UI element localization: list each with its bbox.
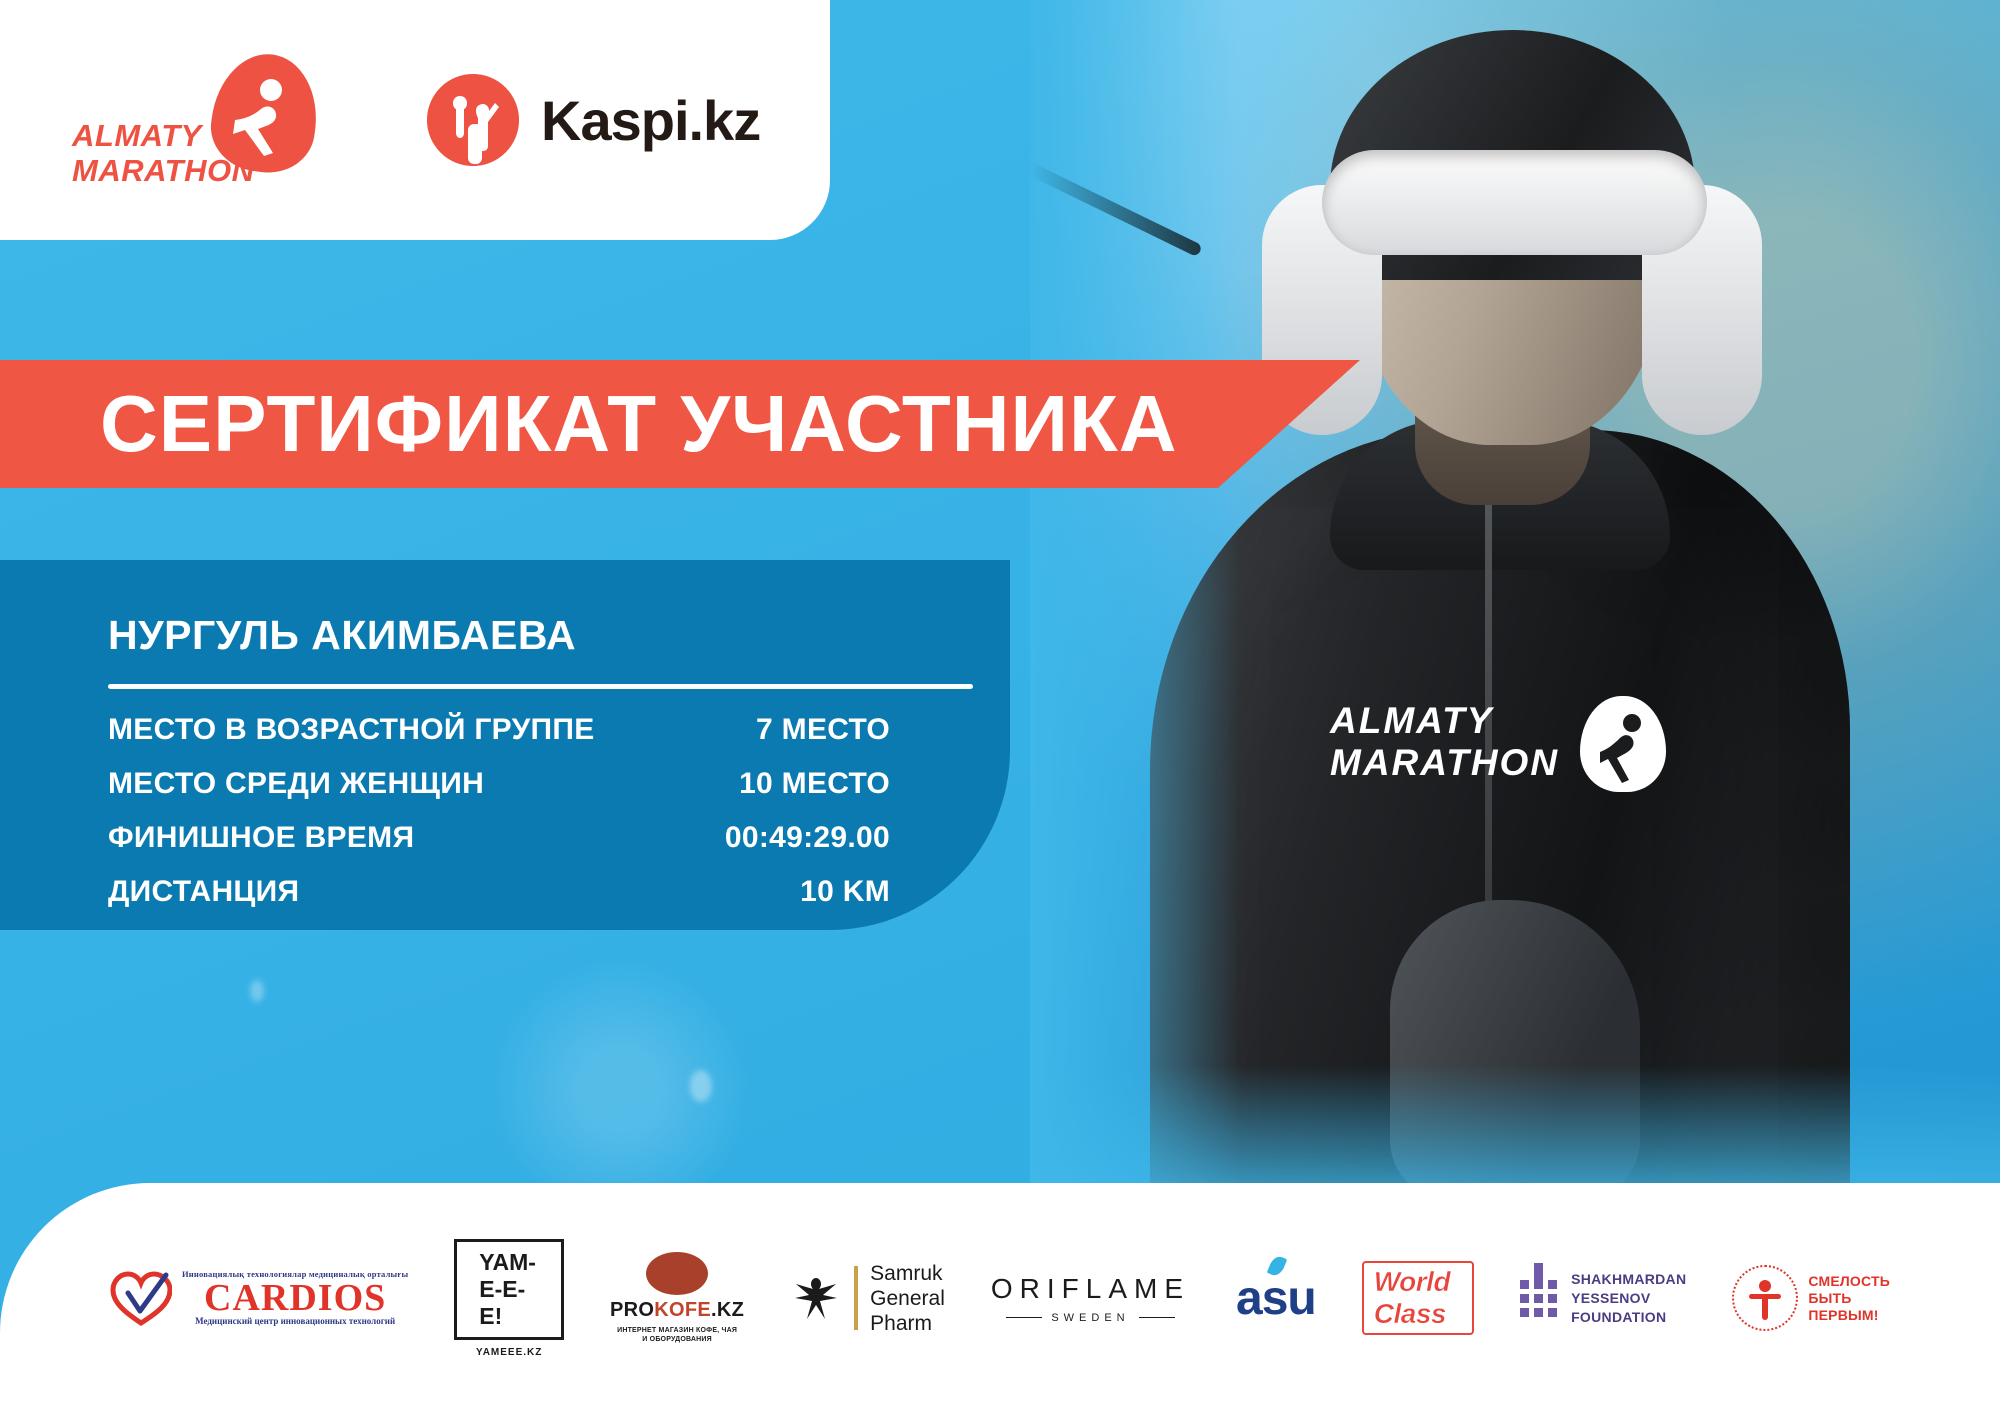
sponsor-logo-yessenov: SHAKHMARDAN YESSENOV FOUNDATION [1520, 1252, 1686, 1344]
jacket-logo-line2: MARATHON [1330, 742, 1559, 783]
mark-cell [1520, 1308, 1529, 1317]
marathon-word-line1: ALMATY [72, 118, 202, 153]
prokofe-tagline-line2: И ОБОРУДОВАНИЯ [642, 1336, 712, 1343]
snow-fleck [690, 1070, 712, 1102]
oriflame-country: SWEDEN [1051, 1312, 1129, 1324]
sponsor-logo-prokofe: PROKOFE.KZ ИНТЕРНЕТ МАГАЗИН КОФЕ, ЧАЯ И … [610, 1252, 744, 1344]
header-bar: ALMATY MARATHON Kaspi.kz [0, 0, 830, 240]
smelost-line3: ПЕРВЫМ! [1808, 1307, 1890, 1324]
kaspi-wordmark: Kaspi.kz [541, 88, 760, 153]
oriflame-name: ORIFLAME [991, 1273, 1190, 1305]
mark-cell [1548, 1308, 1557, 1317]
stat-row: МЕСТО В ВОЗРАСТНОЙ ГРУППЕ 7 МЕСТО [108, 711, 890, 749]
snow-fleck [250, 980, 264, 1002]
runner-drop-icon [1580, 696, 1666, 792]
stat-row: МЕСТО СРЕДИ ЖЕНЩИН 10 МЕСТО [108, 765, 890, 803]
samruk-line3: Pharm [870, 1311, 945, 1336]
oriflame-sub: SWEDEN [1006, 1312, 1174, 1324]
marathon-word-line2: MARATHON [72, 153, 255, 188]
sponsor-logo-yameee: YAM-E-E-E! YAMEEE.KZ [454, 1252, 564, 1344]
mark-cell [1548, 1280, 1557, 1289]
yessenov-line2: FOUNDATION [1571, 1308, 1686, 1327]
samruk-wordmark: Samruk General Pharm [870, 1261, 945, 1336]
photo-left-fade [1030, 0, 1240, 1215]
yameee-name: YAM-E-E-E! [454, 1239, 564, 1340]
mark-cell [1534, 1263, 1543, 1289]
smelost-line1: СМЕЛОСТЬ [1808, 1273, 1890, 1290]
samruk-line1: Samruk [870, 1261, 945, 1286]
asu-name: asu [1236, 1271, 1316, 1326]
title-banner: СЕРТИФИКАТ УЧАСТНИКА [0, 360, 1360, 488]
stat-label: МЕСТО В ВОЗРАСТНОЙ ГРУППЕ [108, 711, 595, 749]
stat-row: ФИНИШНОЕ ВРЕМЯ 00:49:29.00 [108, 819, 890, 857]
sponsor-logo-cardios: Инновациялық технологиялар медициналық о… [110, 1252, 408, 1344]
coffee-pot-icon [646, 1252, 708, 1295]
prokofe-name-post: .KZ [711, 1299, 744, 1321]
jacket-brand-logo: ALMATY MARATHON [1330, 700, 1660, 840]
mark-cell [1548, 1294, 1557, 1303]
athlete-name: НУРГУЛЬ АКИМБАЕВА [108, 612, 890, 658]
stat-value: 00:49:29.00 [725, 819, 890, 857]
smelost-wordmark: СМЕЛОСТЬ БЫТЬ ПЕРВЫМ! [1808, 1273, 1890, 1324]
marathon-wordmark: ALMATY MARATHON [72, 118, 255, 188]
prokofe-tagline-line1: ИНТЕРНЕТ МАГАЗИН КОФЕ, ЧАЯ [617, 1327, 737, 1334]
mark-cell [1534, 1308, 1543, 1317]
stat-value: 7 МЕСТО [756, 711, 890, 749]
worldclass-name: World Class [1362, 1261, 1474, 1335]
rule-left [1006, 1317, 1042, 1318]
prokofe-name: PROKOFE.KZ [610, 1299, 744, 1322]
stat-row: ДИСТАНЦИЯ 10 KM [108, 873, 890, 911]
mark-cell [1534, 1294, 1543, 1303]
eagle-icon [790, 1272, 842, 1324]
sponsor-list: Инновациялық технологиялар медициналық о… [0, 1183, 2000, 1413]
certificate-title: СЕРТИФИКАТ УЧАСТНИКА [0, 384, 1178, 464]
samruk-line2: General [870, 1286, 945, 1311]
certificate-canvas: ALMATY MARATHON ALMATY MARATHON [0, 0, 2000, 1413]
smelost-emblem-icon [1732, 1265, 1798, 1331]
yessenov-wordmark: SHAKHMARDAN YESSENOV FOUNDATION [1571, 1270, 1686, 1327]
cardios-wordmark: Инновациялық технологиялар медициналық о… [182, 1270, 408, 1326]
stat-label: ФИНИШНОЕ ВРЕМЯ [108, 819, 414, 857]
heart-check-icon [110, 1269, 172, 1327]
samruk-divider [854, 1266, 858, 1330]
kaspi-logo: Kaspi.kz [427, 74, 760, 166]
mark-cell [1520, 1280, 1529, 1289]
sponsor-logo-asu: asu [1236, 1252, 1316, 1344]
jacket-logo-line1: ALMATY [1330, 700, 1493, 741]
rule-right [1139, 1317, 1175, 1318]
stats-table: МЕСТО В ВОЗРАСТНОЙ ГРУППЕ 7 МЕСТО МЕСТО … [108, 711, 890, 911]
yameee-domain: YAMEEE.KZ [476, 1347, 542, 1358]
sponsor-logo-smelost: СМЕЛОСТЬ БЫТЬ ПЕРВЫМ! [1732, 1252, 1890, 1344]
stat-value: 10 KM [800, 873, 890, 911]
sponsor-logo-worldclass: World Class [1362, 1252, 1474, 1344]
runner-photo: ALMATY MARATHON [1030, 0, 2000, 1215]
figure-icon [1748, 1279, 1782, 1326]
divider [108, 684, 973, 689]
cardios-name: CARDIOS [204, 1279, 386, 1317]
cardios-tagline-ru: Медицинский центр инновационных технолог… [195, 1317, 395, 1326]
kaspi-people-icon [427, 74, 519, 166]
prokofe-name-pre: PRO [610, 1299, 654, 1321]
mark-cell [1520, 1294, 1529, 1303]
hat-fur-trim [1322, 150, 1707, 255]
stat-value: 10 МЕСТО [739, 765, 890, 803]
sponsor-logo-oriflame: ORIFLAME SWEDEN [991, 1252, 1190, 1344]
sponsor-logo-samruk: Samruk General Pharm [790, 1252, 945, 1344]
stat-label: ДИСТАНЦИЯ [108, 873, 299, 911]
sponsor-bar: Инновациялық технологиялар медициналық о… [0, 1183, 2000, 1413]
prokofe-tagline: ИНТЕРНЕТ МАГАЗИН КОФЕ, ЧАЯ И ОБОРУДОВАНИ… [617, 1326, 737, 1344]
yessenov-mark-icon [1520, 1280, 1557, 1317]
prokofe-name-mid: KOFE [654, 1299, 711, 1321]
yessenov-line1: SHAKHMARDAN YESSENOV [1571, 1270, 1686, 1308]
smelost-line2: БЫТЬ [1808, 1290, 1890, 1307]
participant-info-panel: НУРГУЛЬ АКИМБАЕВА МЕСТО В ВОЗРАСТНОЙ ГРУ… [0, 560, 1010, 930]
almaty-marathon-logo: ALMATY MARATHON [72, 50, 317, 190]
stat-label: МЕСТО СРЕДИ ЖЕНЩИН [108, 765, 484, 803]
